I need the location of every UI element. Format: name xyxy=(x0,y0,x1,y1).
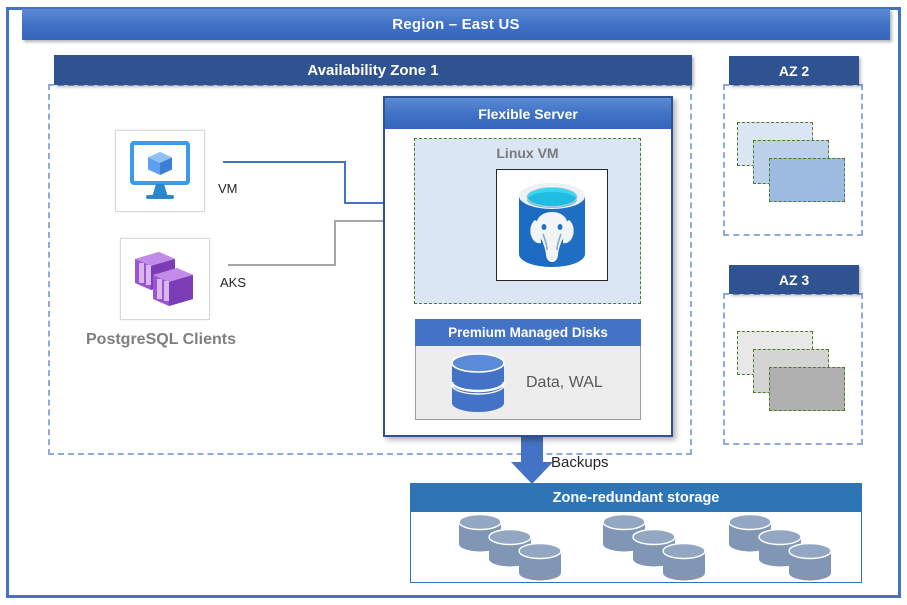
availability-zone-3-boundary xyxy=(723,293,863,445)
zone-redundant-storage-title: Zone-redundant storage xyxy=(553,490,720,506)
zone-redundant-storage-box: Zone-redundant storage xyxy=(410,483,862,583)
client-tile-vm[interactable] xyxy=(115,130,205,212)
premium-managed-disks-header: Premium Managed Disks xyxy=(415,319,641,346)
availability-zone-2-header: AZ 2 xyxy=(729,56,859,85)
flexible-server-title: Flexible Server xyxy=(478,106,578,122)
flexible-server-header: Flexible Server xyxy=(385,98,671,129)
kubernetes-containers-icon xyxy=(121,239,209,319)
premium-managed-disks-box: Premium Managed Disks Data, WAL xyxy=(415,319,641,420)
postgresql-clients-caption: PostgreSQL Clients xyxy=(86,331,236,349)
linux-vm-title: Linux VM xyxy=(415,145,640,161)
availability-zone-1-header: Availability Zone 1 xyxy=(54,55,692,85)
storage-group-3 xyxy=(717,512,867,582)
zone-redundant-storage-body xyxy=(411,512,861,582)
availability-zone-1-title: Availability Zone 1 xyxy=(307,62,438,79)
region-header: Region – East US xyxy=(22,9,890,40)
availability-zone-2-title: AZ 2 xyxy=(779,63,809,79)
premium-managed-disks-data-label: Data, WAL xyxy=(526,374,603,392)
premium-managed-disks-title: Premium Managed Disks xyxy=(448,325,608,340)
linux-vm-box: Linux VM xyxy=(414,138,641,304)
az3-card-front xyxy=(769,367,845,411)
availability-zone-3-header: AZ 3 xyxy=(729,265,859,294)
client-label-aks: AKS xyxy=(220,275,246,290)
flexible-server-box: Flexible Server Linux VM xyxy=(383,96,673,437)
client-tile-aks[interactable] xyxy=(120,238,210,320)
client-label-vm: VM xyxy=(218,181,238,196)
backups-label: Backups xyxy=(551,454,609,471)
availability-zone-3-title: AZ 3 xyxy=(779,272,809,288)
availability-zone-2-boundary xyxy=(723,84,863,236)
database-cylinder-icon xyxy=(442,351,514,415)
region-title: Region – East US xyxy=(392,16,519,33)
premium-managed-disks-body: Data, WAL xyxy=(416,346,640,420)
storage-cylinders-icon xyxy=(447,512,597,582)
postgresql-elephant-icon xyxy=(497,170,607,280)
postgresql-tile[interactable] xyxy=(496,169,608,281)
zone-redundant-storage-header: Zone-redundant storage xyxy=(410,483,862,512)
storage-group-1 xyxy=(447,512,597,582)
az2-card-front xyxy=(769,158,845,202)
virtual-machine-monitor-icon xyxy=(116,131,204,211)
diagram-canvas: Region – East US Availability Zone 1 VM xyxy=(0,0,907,605)
storage-cylinders-icon xyxy=(717,512,867,582)
